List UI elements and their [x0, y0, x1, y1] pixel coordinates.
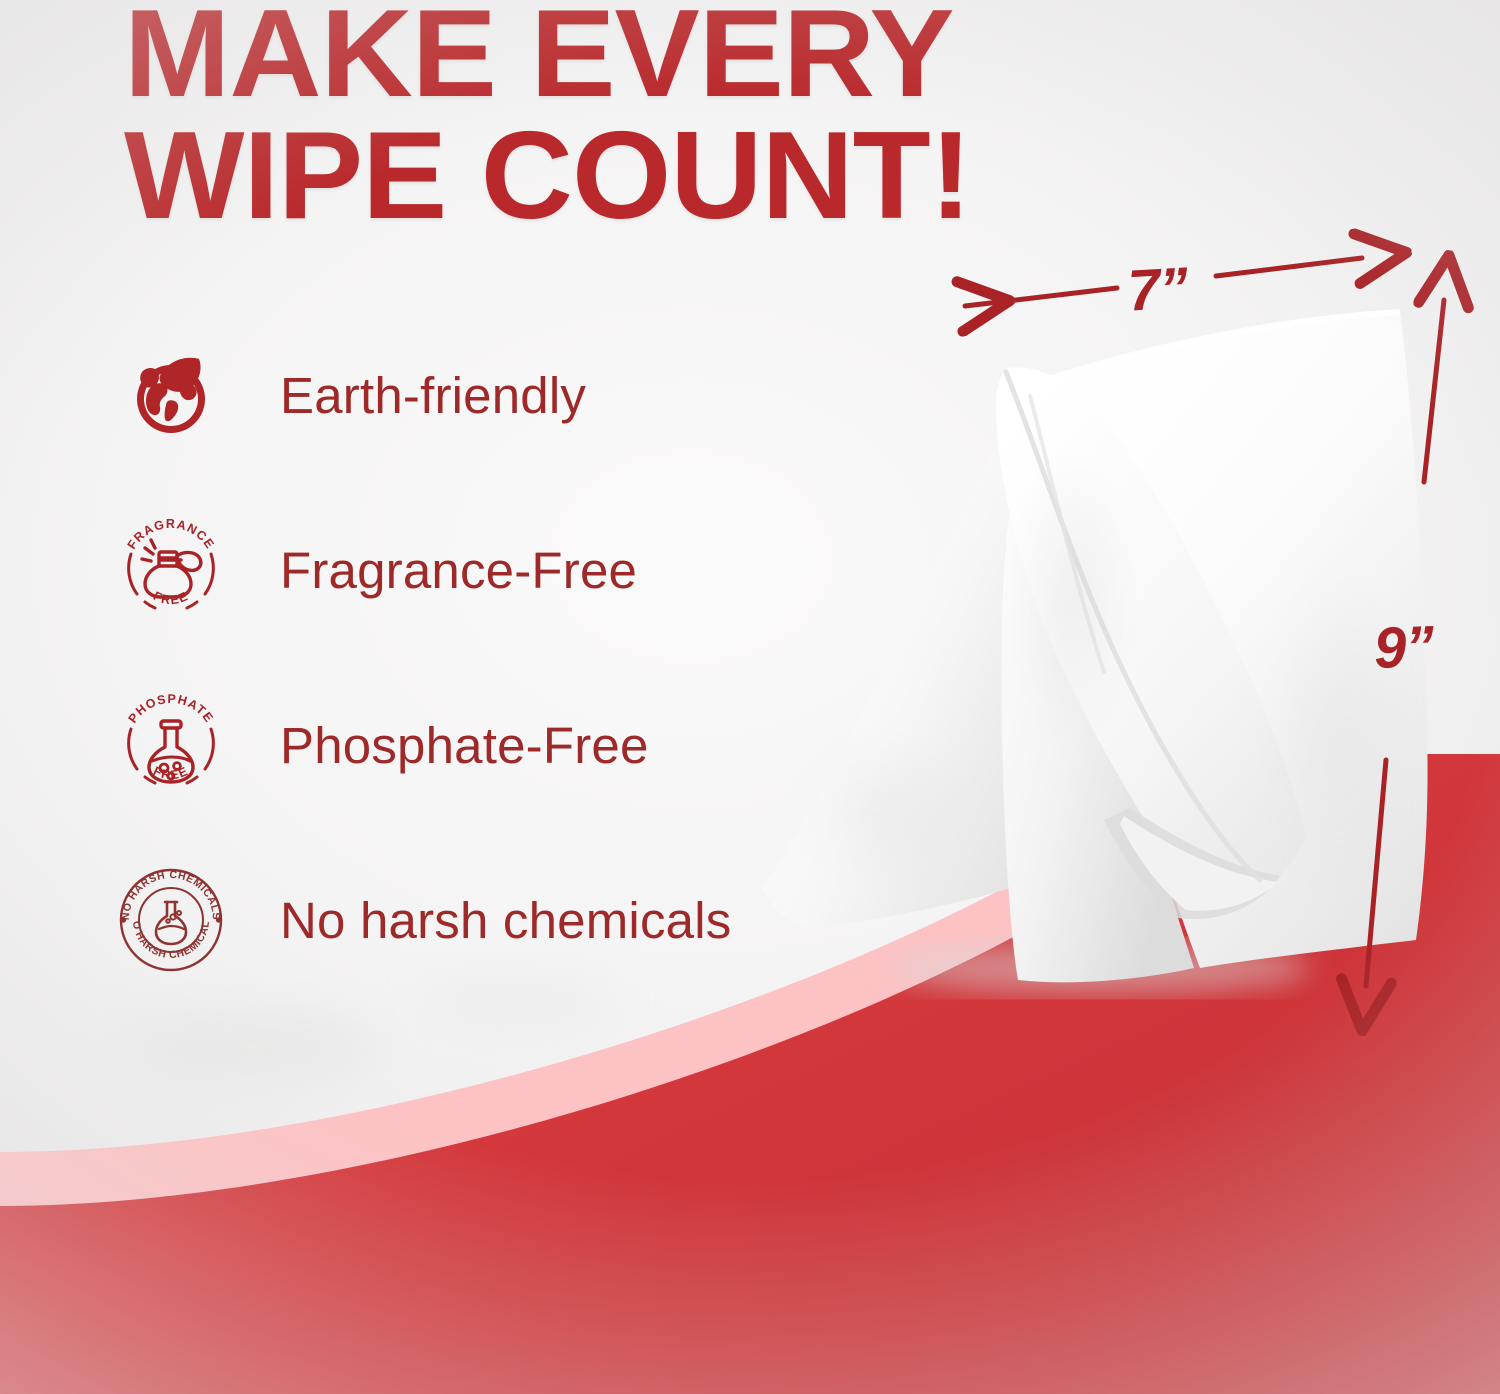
no-harsh-chemicals-icon: NO HARSH CHEMICALS NO HARSH CHEMICALS	[112, 861, 230, 979]
wipe-shading	[1260, 558, 1420, 918]
phosphate-free-icon: PHOSPHATE FREE	[112, 686, 230, 804]
feature-item-earth-friendly: Earth-friendly	[112, 336, 872, 454]
wipe-shading	[1012, 448, 1132, 748]
product-feature-graphic: MAKE EVERY WIPE COUNT!	[0, 0, 1500, 1394]
feature-label: Phosphate-Free	[280, 716, 649, 775]
badge-bottom-text: FREE	[151, 589, 191, 607]
feature-label: Fragrance-Free	[280, 541, 637, 600]
feature-item-phosphate-free: PHOSPHATE FREE Phosphate-Free	[112, 686, 872, 804]
feature-item-no-harsh-chemicals: NO HARSH CHEMICALS NO HARSH CHEMICALS No…	[112, 861, 872, 979]
feature-list: Earth-friendly	[112, 336, 872, 979]
height-dimension-label: 9”	[1373, 613, 1435, 682]
fragrance-free-icon: FRAGRANCE FREE	[112, 511, 230, 629]
feature-item-fragrance-free: FRAGRANCE FREE Fragrance-Free	[112, 511, 872, 629]
feature-label: Earth-friendly	[280, 366, 586, 425]
page-title: MAKE EVERY WIPE COUNT!	[124, 0, 1154, 237]
width-dimension-label: 7”	[1126, 254, 1189, 324]
headline-line-2: WIPE COUNT!	[124, 116, 1154, 238]
badge-top-text: FRAGRANCE	[125, 517, 218, 552]
globe-leaf-icon	[112, 336, 230, 454]
headline-line-1: MAKE EVERY	[124, 0, 1154, 116]
badge-top-text: NO HARSH CHEMICALS	[120, 869, 222, 921]
feature-label: No harsh chemicals	[280, 891, 731, 950]
